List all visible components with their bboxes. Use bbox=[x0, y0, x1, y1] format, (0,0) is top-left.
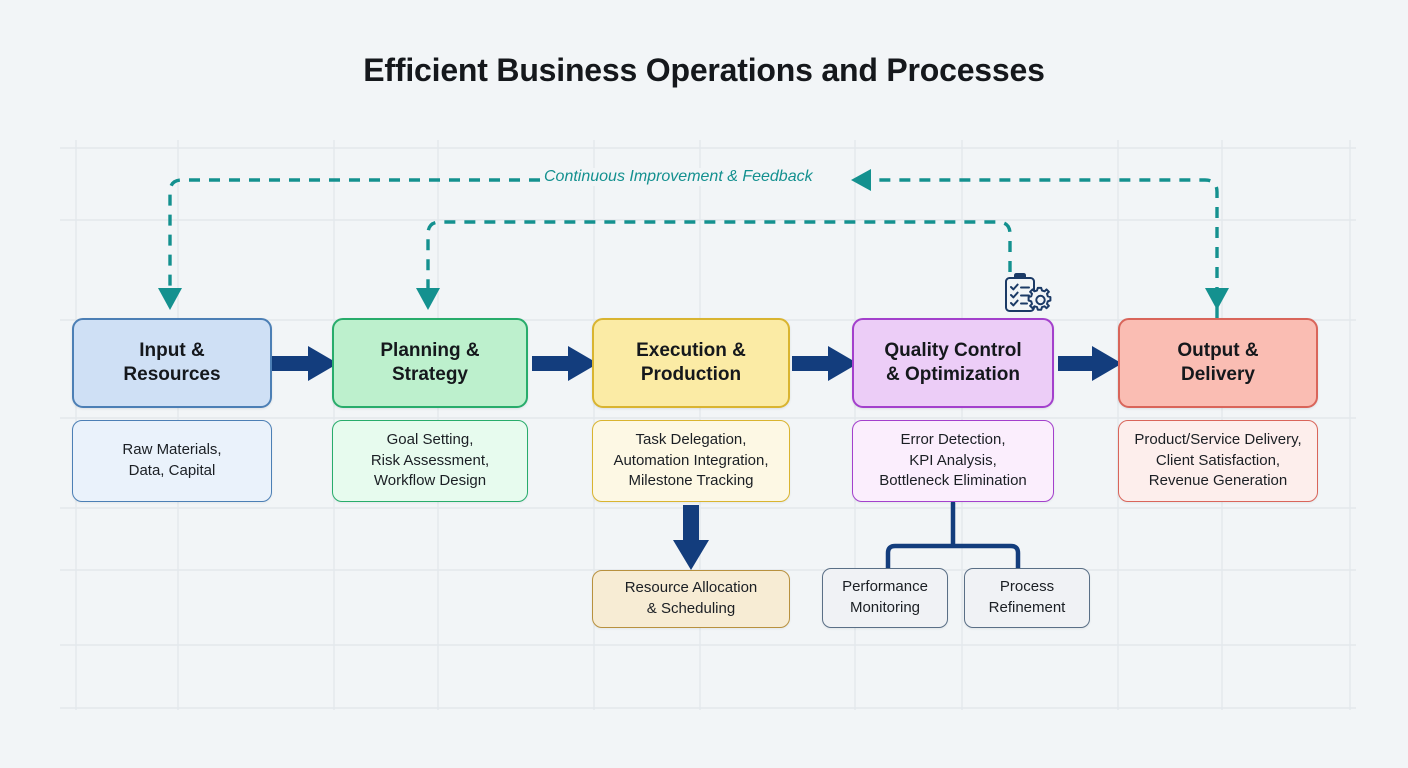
stage-title-line2: Production bbox=[636, 363, 746, 387]
stage-box-input-resources[interactable]: Input & Resources bbox=[72, 318, 272, 408]
detail-line: Client Satisfaction, bbox=[1134, 451, 1301, 472]
detail-line: KPI Analysis, bbox=[879, 451, 1027, 472]
stage-title-line1: Quality Control bbox=[884, 339, 1021, 363]
page-title: Efficient Business Operations and Proces… bbox=[0, 52, 1408, 89]
sub-node-text: Resource Allocation & Scheduling bbox=[625, 578, 758, 619]
detail-line: Error Detection, bbox=[879, 430, 1027, 451]
stage-title-line1: Input & bbox=[123, 339, 220, 363]
stage-title: Output & Delivery bbox=[1177, 339, 1258, 387]
detail-line: Automation Integration, bbox=[613, 451, 768, 472]
sub-node-line: Performance bbox=[842, 577, 928, 598]
sub-node-line: Monitoring bbox=[842, 598, 928, 619]
detail-line: Task Delegation, bbox=[613, 430, 768, 451]
qc-bracket bbox=[888, 503, 1018, 568]
detail-box-output-delivery[interactable]: Product/Service Delivery, Client Satisfa… bbox=[1118, 420, 1318, 502]
stage-box-output-delivery[interactable]: Output & Delivery bbox=[1118, 318, 1318, 408]
sub-node-line: & Scheduling bbox=[625, 599, 758, 620]
stage-title-line1: Execution & bbox=[636, 339, 746, 363]
feedback-loops bbox=[170, 180, 1217, 318]
detail-box-planning-strategy[interactable]: Goal Setting, Risk Assessment, Workflow … bbox=[332, 420, 528, 502]
stage-title: Execution & Production bbox=[636, 339, 746, 387]
detail-line: Data, Capital bbox=[122, 461, 221, 482]
detail-line: Bottleneck Elimination bbox=[879, 471, 1027, 492]
sub-node-performance-monitoring[interactable]: Performance Monitoring bbox=[822, 568, 948, 628]
detail-box-execution-production[interactable]: Task Delegation, Automation Integration,… bbox=[592, 420, 790, 502]
detail-text: Product/Service Delivery, Client Satisfa… bbox=[1134, 430, 1301, 492]
detail-text: Error Detection, KPI Analysis, Bottlenec… bbox=[879, 430, 1027, 492]
detail-line: Workflow Design bbox=[371, 471, 489, 492]
stage-box-planning-strategy[interactable]: Planning & Strategy bbox=[332, 318, 528, 408]
diagram-canvas: Efficient Business Operations and Proces… bbox=[0, 0, 1408, 768]
sub-node-text: Performance Monitoring bbox=[842, 577, 928, 618]
sub-node-line: Resource Allocation bbox=[625, 578, 758, 599]
stage-title-line2: Resources bbox=[123, 363, 220, 387]
detail-line: Revenue Generation bbox=[1134, 471, 1301, 492]
sub-node-line: Process bbox=[989, 577, 1066, 598]
detail-line: Goal Setting, bbox=[371, 430, 489, 451]
stage-box-execution-production[interactable]: Execution & Production bbox=[592, 318, 790, 408]
detail-line: Milestone Tracking bbox=[613, 471, 768, 492]
sub-node-process-refinement[interactable]: Process Refinement bbox=[964, 568, 1090, 628]
stage-title-line1: Output & bbox=[1177, 339, 1258, 363]
stage-box-quality-control[interactable]: Quality Control & Optimization bbox=[852, 318, 1054, 408]
detail-line: Product/Service Delivery, bbox=[1134, 430, 1301, 451]
detail-line: Raw Materials, bbox=[122, 440, 221, 461]
detail-text: Task Delegation, Automation Integration,… bbox=[613, 430, 768, 492]
stage-title: Input & Resources bbox=[123, 339, 220, 387]
detail-text: Raw Materials, Data, Capital bbox=[122, 440, 221, 481]
detail-box-input-resources[interactable]: Raw Materials, Data, Capital bbox=[72, 420, 272, 502]
sub-node-text: Process Refinement bbox=[989, 577, 1066, 618]
clipboard-gear-icon bbox=[1000, 272, 1054, 314]
stage-title-line2: Strategy bbox=[380, 363, 479, 387]
detail-text: Goal Setting, Risk Assessment, Workflow … bbox=[371, 430, 489, 492]
feedback-arrowheads bbox=[158, 169, 1229, 310]
stage-title-line2: Delivery bbox=[1177, 363, 1258, 387]
stage-title-line2: & Optimization bbox=[884, 363, 1021, 387]
detail-box-quality-control[interactable]: Error Detection, KPI Analysis, Bottlenec… bbox=[852, 420, 1054, 502]
stage-title-line1: Planning & bbox=[380, 339, 479, 363]
feedback-loop-label: Continuous Improvement & Feedback bbox=[540, 168, 817, 186]
sub-node-resource-allocation[interactable]: Resource Allocation & Scheduling bbox=[592, 570, 790, 628]
sub-node-line: Refinement bbox=[989, 598, 1066, 619]
detail-line: Risk Assessment, bbox=[371, 451, 489, 472]
stage-title: Planning & Strategy bbox=[380, 339, 479, 387]
stage-title: Quality Control & Optimization bbox=[884, 339, 1021, 387]
